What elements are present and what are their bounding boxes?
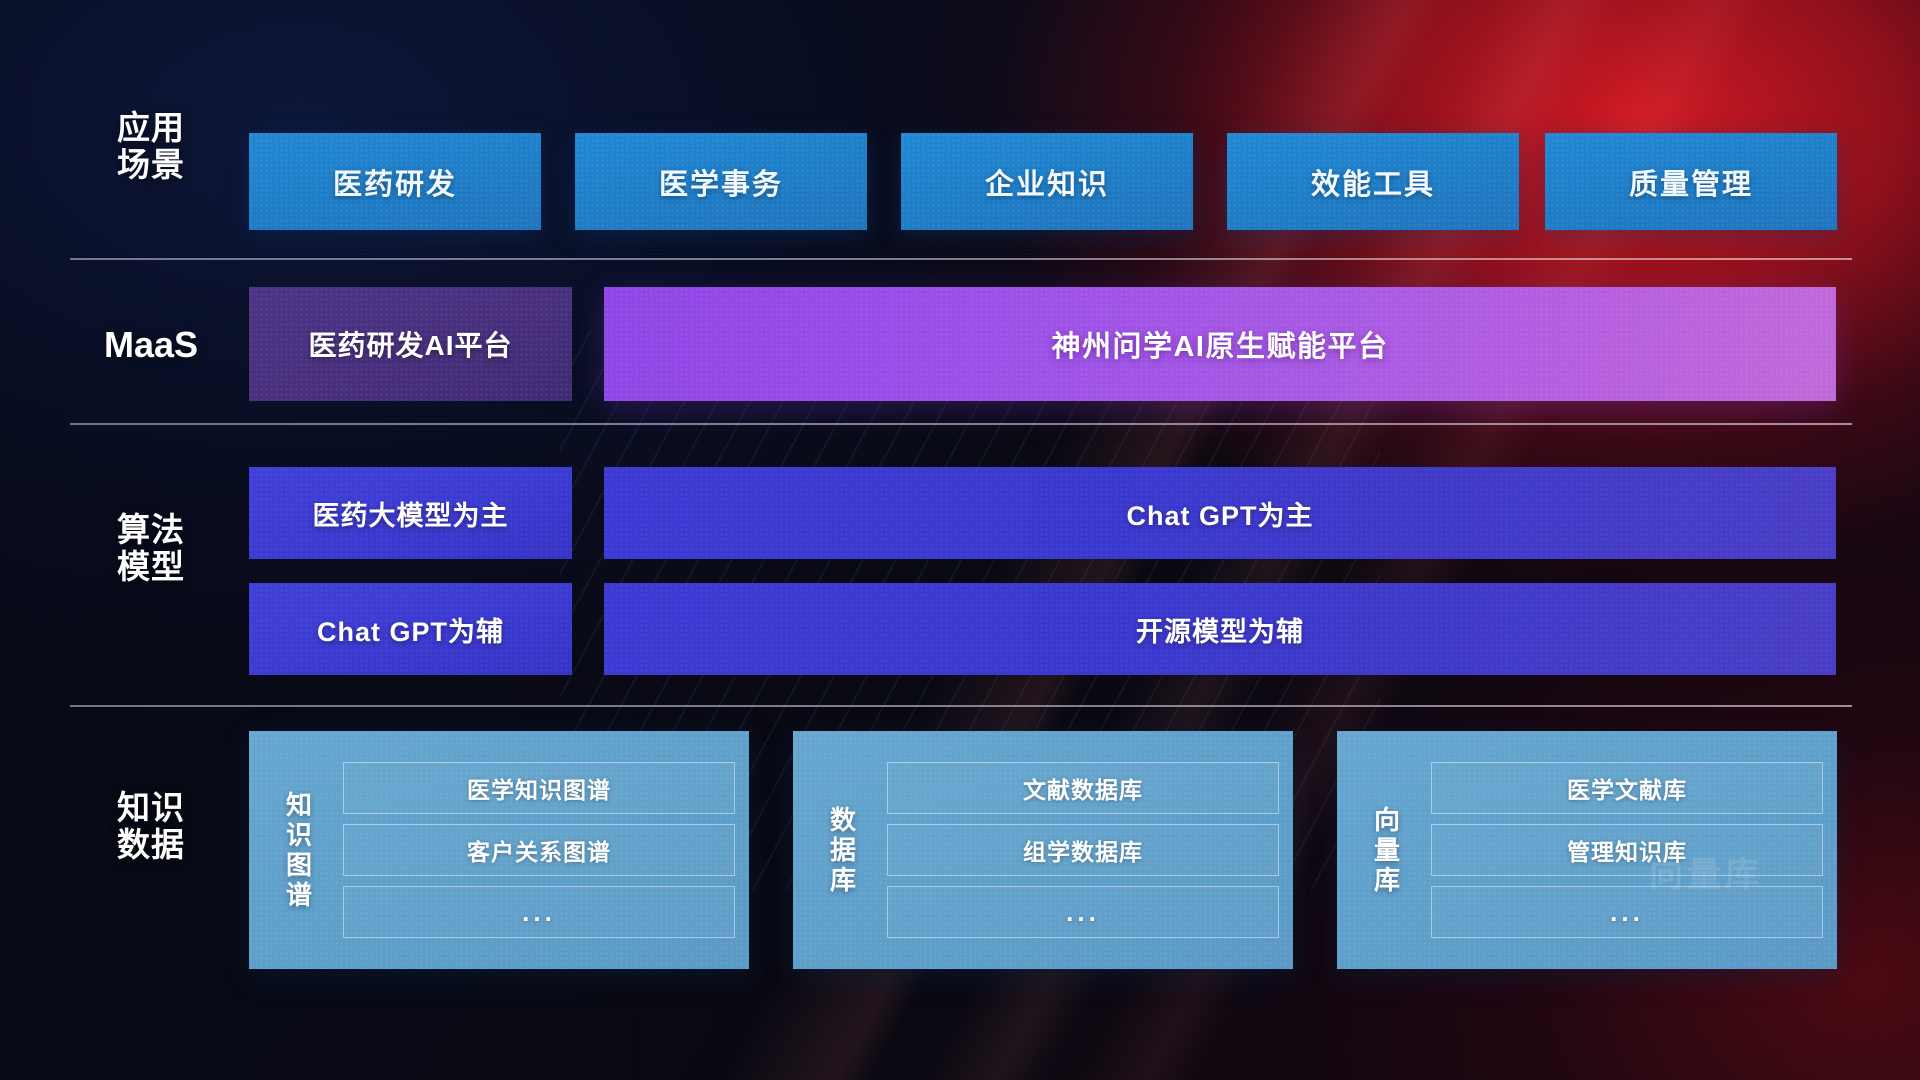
algo-box-medicine-large-model-primary[interactable]: 医药大模型为主 — [249, 467, 572, 559]
app-box-label: 企业知识 — [985, 161, 1109, 203]
app-box-label: 医学事务 — [659, 161, 783, 203]
algo-box-label: 医药大模型为主 — [313, 494, 509, 533]
app-box-label: 医药研发 — [333, 161, 457, 203]
algo-box-label: Chat GPT为辅 — [317, 610, 504, 649]
app-box-medical-affairs[interactable]: 医学事务 — [575, 133, 867, 230]
algo-box-label: Chat GPT为主 — [1126, 494, 1313, 533]
knowledge-panel-title: 向 量 库 — [1349, 805, 1425, 895]
knowledge-item-more[interactable]: ... — [887, 886, 1279, 938]
row-label-application-scenarios: 应用 场景 — [76, 110, 226, 184]
maas-box-label: 神州问学AI原生赋能平台 — [1051, 323, 1388, 365]
knowledge-item[interactable]: 管理知识库 — [1431, 824, 1823, 876]
knowledge-item-more[interactable]: ... — [1431, 886, 1823, 938]
row-label-maas: MaaS — [76, 325, 226, 365]
app-box-enterprise-knowledge[interactable]: 企业知识 — [901, 133, 1193, 230]
knowledge-panel-item-list: 医学知识图谱 客户关系图谱 ... — [337, 748, 749, 952]
app-box-medicine-rd[interactable]: 医药研发 — [249, 133, 541, 230]
knowledge-panel-title: 知 识 图 谱 — [261, 790, 337, 911]
algo-box-label: 开源模型为辅 — [1136, 610, 1304, 649]
app-box-label: 效能工具 — [1311, 161, 1435, 203]
row-label-algorithm-model: 算法 模型 — [76, 512, 226, 586]
maas-box-shenzhou-wenxue-platform[interactable]: 神州问学AI原生赋能平台 — [604, 287, 1836, 401]
knowledge-panel-vector-store[interactable]: 向 量 库 医学文献库 管理知识库 ... 向量库 — [1337, 731, 1837, 969]
algo-box-chatgpt-primary[interactable]: Chat GPT为主 — [604, 467, 1836, 559]
knowledge-panel-item-list: 文献数据库 组学数据库 ... — [881, 748, 1293, 952]
knowledge-item[interactable]: 组学数据库 — [887, 824, 1279, 876]
slide-canvas: 应用 场景 医药研发 医学事务 企业知识 效能工具 质量管理 MaaS 医药研发… — [0, 0, 1920, 1080]
knowledge-panel-item-list: 医学文献库 管理知识库 ... — [1425, 748, 1837, 952]
maas-box-label: 医药研发AI平台 — [308, 324, 512, 364]
divider-3 — [70, 705, 1852, 707]
algo-box-opensource-secondary[interactable]: 开源模型为辅 — [604, 583, 1836, 675]
knowledge-item-more[interactable]: ... — [343, 886, 735, 938]
knowledge-panel-knowledge-graph[interactable]: 知 识 图 谱 医学知识图谱 客户关系图谱 ... — [249, 731, 749, 969]
knowledge-item[interactable]: 医学文献库 — [1431, 762, 1823, 814]
knowledge-panel-database[interactable]: 数 据 库 文献数据库 组学数据库 ... — [793, 731, 1293, 969]
divider-2 — [70, 423, 1852, 425]
knowledge-item[interactable]: 医学知识图谱 — [343, 762, 735, 814]
maas-box-medicine-ai-platform[interactable]: 医药研发AI平台 — [249, 287, 572, 401]
algo-box-chatgpt-secondary[interactable]: Chat GPT为辅 — [249, 583, 572, 675]
knowledge-item[interactable]: 客户关系图谱 — [343, 824, 735, 876]
app-box-label: 质量管理 — [1629, 161, 1753, 203]
knowledge-panel-title: 数 据 库 — [805, 805, 881, 895]
divider-1 — [70, 258, 1852, 260]
row-label-knowledge-data: 知识 数据 — [76, 790, 226, 864]
app-box-quality-management[interactable]: 质量管理 — [1545, 133, 1837, 230]
app-box-efficiency-tools[interactable]: 效能工具 — [1227, 133, 1519, 230]
knowledge-item[interactable]: 文献数据库 — [887, 762, 1279, 814]
